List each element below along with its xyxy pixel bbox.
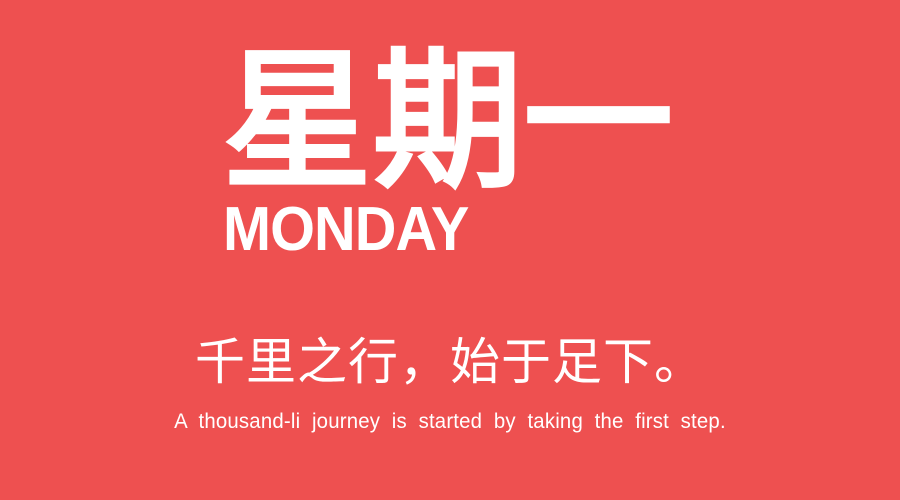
daily-weekday-card: 星期一 MONDAY 千里之行，始于足下。 A thousand-li jour… — [0, 0, 900, 500]
proverb-block: 千里之行，始于足下。 A thousand-li journey is star… — [0, 332, 900, 434]
proverb-english-translation: A thousand-li journey is started by taki… — [14, 409, 887, 434]
proverb-cjk-text: 千里之行，始于足下。 — [0, 332, 900, 393]
headline-inner: 星期一 MONDAY — [222, 48, 678, 261]
weekday-latin-subtitle: MONDAY — [223, 199, 646, 261]
weekday-cjk-title: 星期一 — [222, 48, 673, 197]
headline-block: 星期一 MONDAY — [0, 48, 900, 261]
